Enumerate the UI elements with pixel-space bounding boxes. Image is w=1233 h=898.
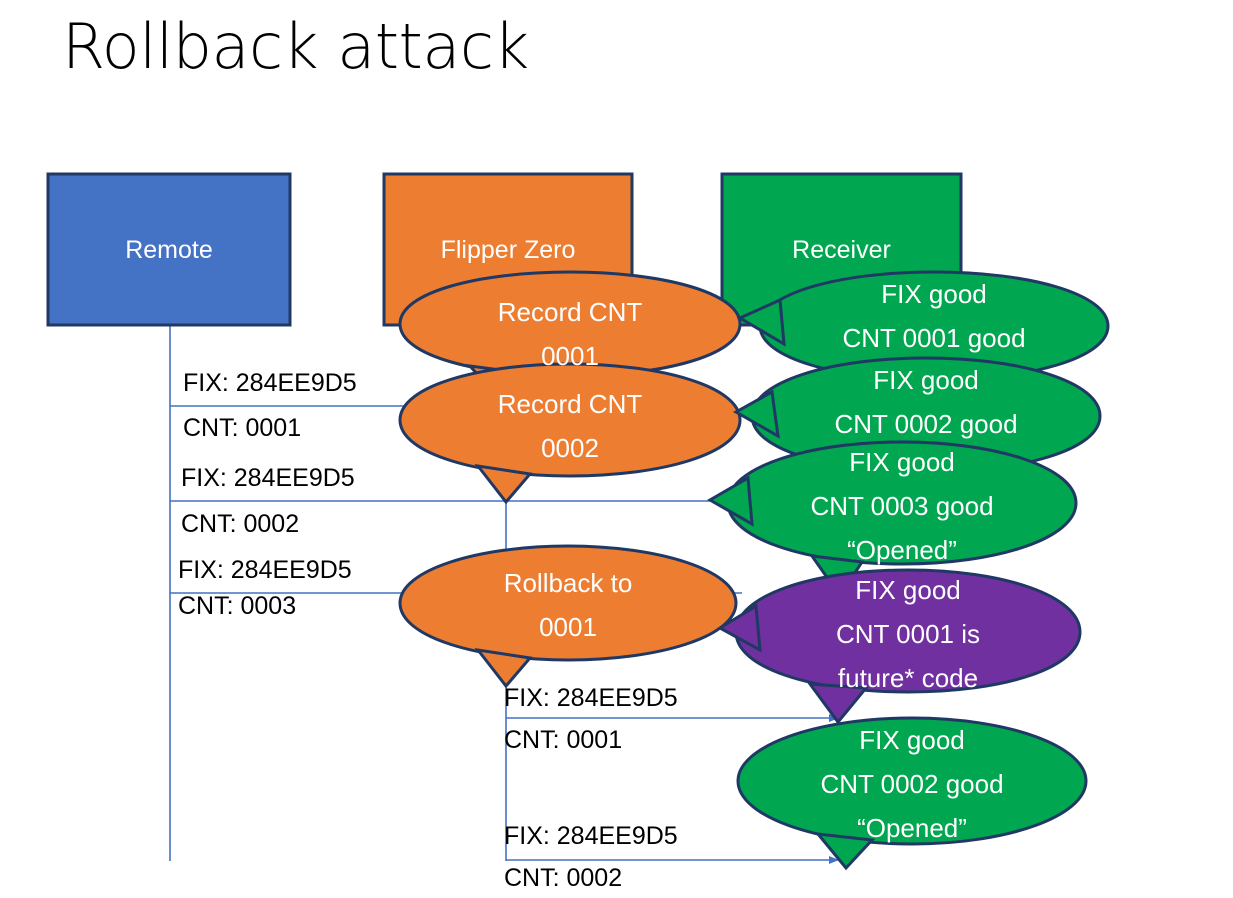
page-title: Rollback attack [62, 10, 529, 83]
message-2-fix: FIX: 284EE9D5 [181, 464, 355, 493]
slide-canvas: Rollback attack Remote Flipper Zero Rece… [0, 0, 1233, 898]
message-4-cnt: CNT: 0001 [504, 726, 622, 755]
bubble-label-cnt-0002-opened: FIX good CNT 0002 good “Opened” [738, 718, 1086, 850]
message-5-fix: FIX: 284EE9D5 [504, 822, 678, 851]
bubble-label-cnt-0001-future: FIX good CNT 0001 is future* code [736, 568, 1080, 700]
message-5-cnt: CNT: 0002 [504, 864, 622, 893]
message-1-cnt: CNT: 0001 [183, 414, 301, 443]
message-1-fix: FIX: 284EE9D5 [183, 369, 357, 398]
bubble-label-cnt-0002-good: FIX good CNT 0002 good [752, 358, 1100, 446]
bubble-label-cnt-0001-good: FIX good CNT 0001 good [760, 272, 1108, 360]
lane-label-remote: Remote [48, 236, 290, 265]
message-4-fix: FIX: 284EE9D5 [504, 684, 678, 713]
bubble-label-record-0002: Record CNT 0002 [400, 382, 740, 470]
bubble-label-record-0001: Record CNT 0001 [400, 290, 740, 378]
bubble-label-rollback-0001: Rollback to 0001 [400, 561, 736, 649]
lane-label-flipper: Flipper Zero [384, 236, 632, 265]
message-2-cnt: CNT: 0002 [181, 510, 299, 539]
message-3-cnt: CNT: 0003 [178, 592, 296, 621]
lane-label-receiver: Receiver [722, 236, 961, 265]
bubble-label-cnt-0003-opened: FIX good CNT 0003 good “Opened” [728, 440, 1076, 572]
message-3-fix: FIX: 284EE9D5 [178, 556, 352, 585]
